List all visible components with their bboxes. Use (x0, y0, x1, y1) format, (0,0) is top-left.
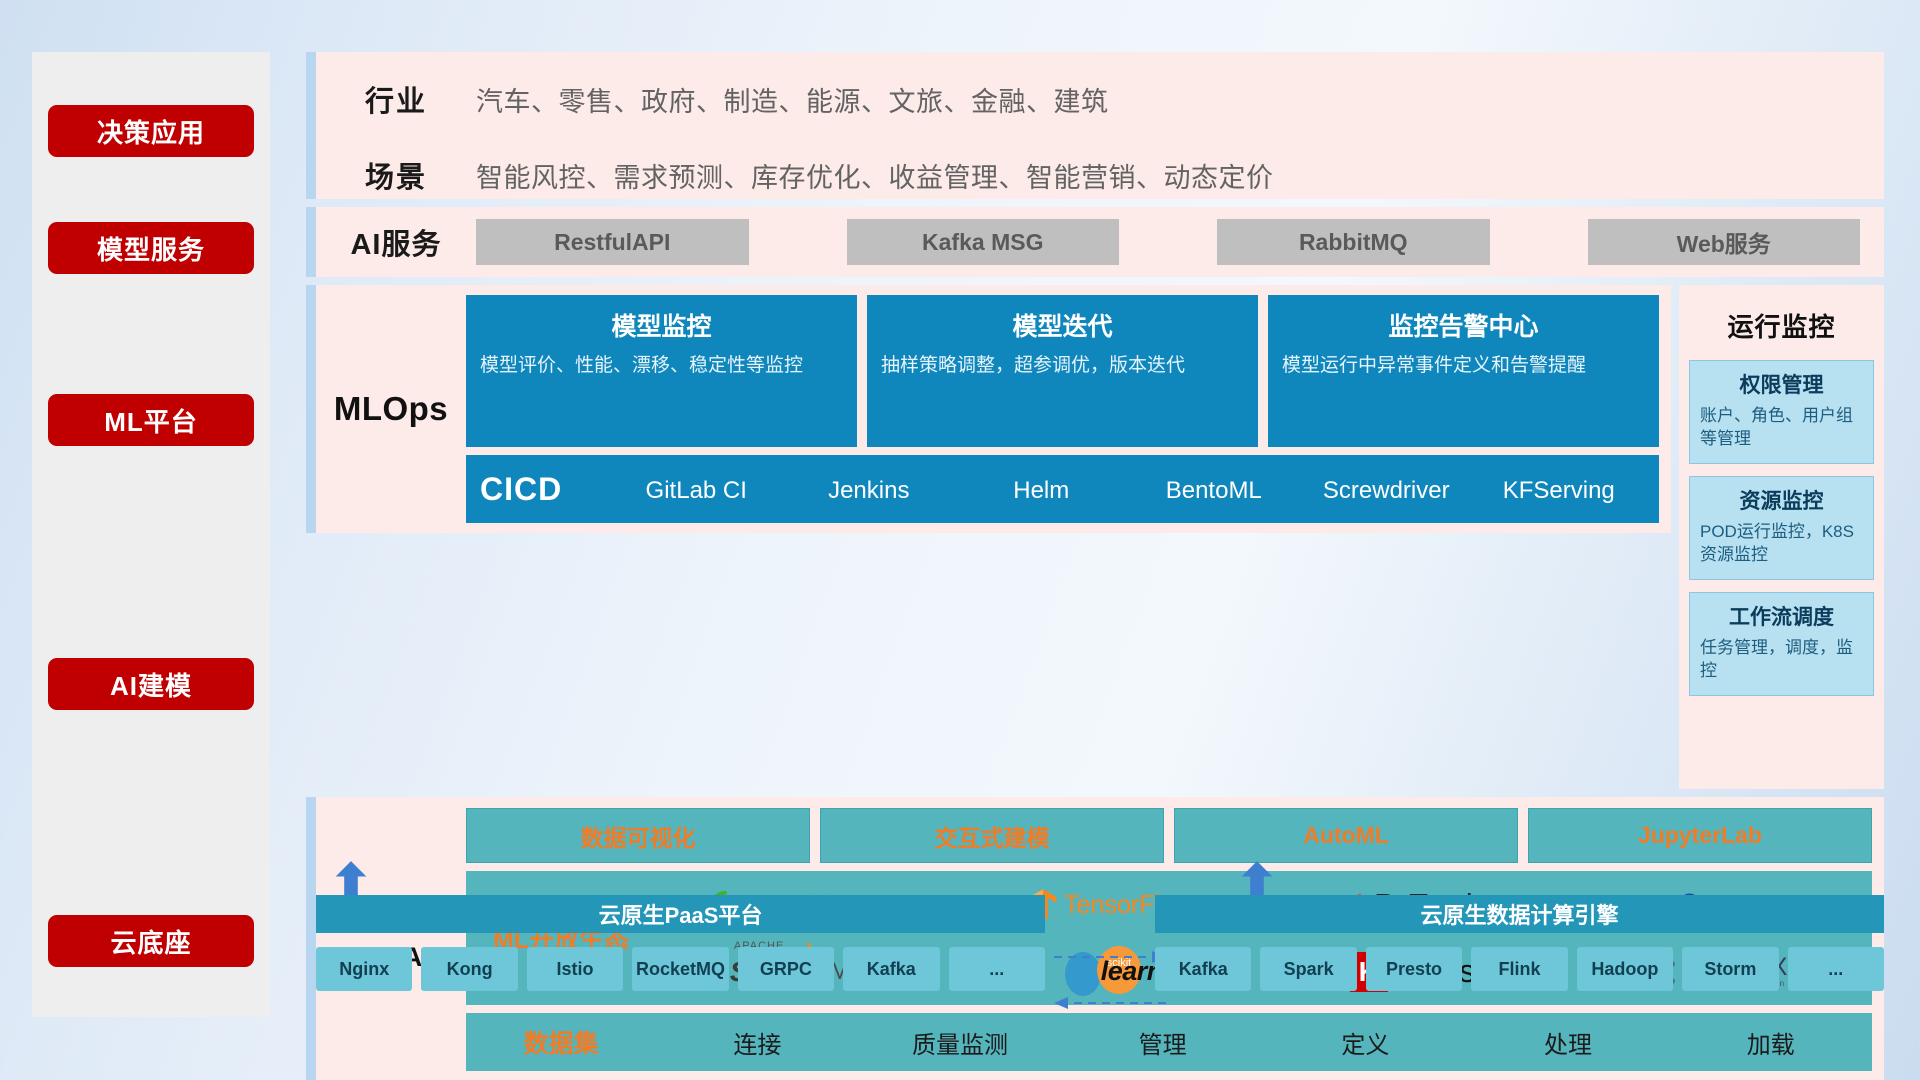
mlops-content: 模型监控 模型评价、性能、漂移、稳定性等监控 模型迭代 抽样策略调整，超参调优，… (466, 295, 1659, 523)
chip-more-compute[interactable]: ... (1788, 947, 1884, 991)
industry-scenario-band: 行业 汽车、零售、政府、制造、能源、文旅、金融、建筑 场景 智能风控、需求预测、… (306, 52, 1884, 199)
dataset-items: 连接 质量监测 管理 定义 处理 加载 (656, 1025, 1872, 1060)
scenario-row: 场景 智能风控、需求预测、库存优化、收益管理、智能营销、动态定价 (316, 150, 1884, 200)
dataset-item-connect[interactable]: 连接 (656, 1025, 859, 1060)
paas-chip-group: Nginx Kong Istio RocketMQ GRPC Kafka ... (316, 947, 1045, 991)
ai-service-chip-restfulapi[interactable]: RestfulAPI (476, 219, 749, 265)
chip-storm[interactable]: Storm (1682, 947, 1778, 991)
cicd-bar: CICD GitLab CI Jenkins Helm BentoML Scre… (466, 455, 1659, 523)
mlops-card-model-iteration[interactable]: 模型迭代 抽样策略调整，超参调优，版本迭代 (867, 295, 1258, 447)
chip-flink[interactable]: Flink (1471, 947, 1567, 991)
card-desc: 任务管理，调度，监控 (1700, 637, 1863, 683)
mlops-monitor-row: MLOps 模型监控 模型评价、性能、漂移、稳定性等监控 模型迭代 抽样策略调整… (306, 285, 1884, 789)
cicd-item-screwdriver[interactable]: Screwdriver (1300, 473, 1473, 505)
mlops-label: MLOps (316, 390, 466, 428)
tool-interactive-modeling[interactable]: 交互式建模 (820, 808, 1164, 863)
ai-service-items: RestfulAPI Kafka MSG RabbitMQ Web服务 (476, 219, 1884, 265)
chip-nginx[interactable]: Nginx (316, 947, 412, 991)
card-title: 模型监控 (480, 307, 843, 343)
tool-automl[interactable]: AutoML (1174, 808, 1518, 863)
ai-service-chip-web[interactable]: Web服务 (1588, 219, 1861, 265)
chip-more-paas[interactable]: ... (949, 947, 1045, 991)
rail-item-ai-modeling[interactable]: AI建模 (48, 658, 254, 710)
compute-chip-group: Kafka Spark Presto Flink Hadoop Storm ..… (1155, 947, 1884, 991)
mlops-cards: 模型监控 模型评价、性能、漂移、稳定性等监控 模型迭代 抽样策略调整，超参调优，… (466, 295, 1659, 447)
up-arrow-compute-icon (1240, 858, 1274, 900)
dataset-item-define[interactable]: 定义 (1264, 1025, 1467, 1060)
industry-label: 行业 (316, 78, 476, 120)
cloud-base-section: 云原生PaaS平台 云原生数据计算引擎 Nginx Kong Istio Roc… (316, 895, 1884, 991)
cloud-chip-rows: Nginx Kong Istio RocketMQ GRPC Kafka ...… (316, 947, 1884, 991)
card-title: 监控告警中心 (1282, 307, 1645, 343)
rail-item-ml-platform[interactable]: ML平台 (48, 394, 254, 446)
chip-istio[interactable]: Istio (527, 947, 623, 991)
card-desc: POD运行监控，K8S资源监控 (1700, 521, 1863, 567)
card-title: 模型迭代 (881, 307, 1244, 343)
card-title: 权限管理 (1700, 369, 1863, 399)
chip-kong[interactable]: Kong (421, 947, 517, 991)
card-desc: 模型评价、性能、漂移、稳定性等监控 (480, 353, 843, 379)
cicd-items: GitLab CI Jenkins Helm BentoML Screwdriv… (610, 473, 1645, 505)
ai-service-band: AI服务 RestfulAPI Kafka MSG RabbitMQ Web服务 (306, 207, 1884, 277)
chip-spark[interactable]: Spark (1260, 947, 1356, 991)
industry-value: 汽车、零售、政府、制造、能源、文旅、金融、建筑 (476, 80, 1109, 119)
up-arrow-paas-icon (334, 858, 368, 900)
cicd-item-helm[interactable]: Helm (955, 473, 1128, 505)
dataset-row: 数据集 连接 质量监测 管理 定义 处理 加载 (466, 1013, 1872, 1071)
monitor-card-resource[interactable]: 资源监控 POD运行监控，K8S资源监控 (1689, 476, 1874, 580)
cicd-item-gitlab-ci[interactable]: GitLab CI (610, 473, 783, 505)
cicd-item-bentoml[interactable]: BentoML (1128, 473, 1301, 505)
tool-data-visualization[interactable]: 数据可视化 (466, 808, 810, 863)
dataset-item-load[interactable]: 加载 (1669, 1025, 1872, 1060)
chip-kafka-paas[interactable]: Kafka (843, 947, 939, 991)
card-title: 资源监控 (1700, 485, 1863, 515)
mlops-card-model-monitoring[interactable]: 模型监控 模型评价、性能、漂移、稳定性等监控 (466, 295, 857, 447)
dataset-item-manage[interactable]: 管理 (1061, 1025, 1264, 1060)
chip-kafka-compute[interactable]: Kafka (1155, 947, 1251, 991)
chip-rocketmq[interactable]: RocketMQ (632, 947, 728, 991)
card-title: 工作流调度 (1700, 601, 1863, 631)
rail-item-decision-app[interactable]: 决策应用 (48, 105, 254, 157)
scenario-label: 场景 (316, 154, 476, 196)
dataset-item-quality[interactable]: 质量监测 (859, 1025, 1062, 1060)
mlops-card-alert-center[interactable]: 监控告警中心 模型运行中异常事件定义和告警提醒 (1268, 295, 1659, 447)
monitor-card-permission[interactable]: 权限管理 账户、角色、用户组等管理 (1689, 360, 1874, 464)
industry-row: 行业 汽车、零售、政府、制造、能源、文旅、金融、建筑 (316, 74, 1884, 124)
cloud-bar-data-engine[interactable]: 云原生数据计算引擎 (1155, 895, 1884, 933)
scenario-value: 智能风控、需求预测、库存优化、收益管理、智能营销、动态定价 (476, 156, 1274, 195)
cicd-item-kfserving[interactable]: KFServing (1473, 473, 1646, 505)
dataset-label: 数据集 (466, 1024, 656, 1060)
chip-grpc[interactable]: GRPC (738, 947, 834, 991)
stack-layer-rail: 决策应用 模型服务 ML平台 AI建模 云底座 (32, 52, 270, 1017)
card-desc: 账户、角色、用户组等管理 (1700, 405, 1863, 451)
chip-presto[interactable]: Presto (1366, 947, 1462, 991)
cloud-bar-paas[interactable]: 云原生PaaS平台 (316, 895, 1045, 933)
runtime-monitor-title: 运行监控 (1689, 307, 1874, 344)
cicd-item-jenkins[interactable]: Jenkins (783, 473, 956, 505)
mlops-band: MLOps 模型监控 模型评价、性能、漂移、稳定性等监控 模型迭代 抽样策略调整… (306, 285, 1671, 533)
ml-lab-tools: 数据可视化 交互式建模 AutoML JupyterLab (466, 808, 1872, 863)
monitor-card-workflow[interactable]: 工作流调度 任务管理，调度，监控 (1689, 592, 1874, 696)
chip-hadoop[interactable]: Hadoop (1577, 947, 1673, 991)
tool-jupyterlab[interactable]: JupyterLab (1528, 808, 1872, 863)
cicd-title: CICD (480, 471, 610, 508)
ai-service-chip-rabbitmq[interactable]: RabbitMQ (1217, 219, 1490, 265)
card-desc: 抽样策略调整，超参调优，版本迭代 (881, 353, 1244, 379)
dataset-item-process[interactable]: 处理 (1467, 1025, 1670, 1060)
rail-item-cloud-base[interactable]: 云底座 (48, 915, 254, 967)
rail-item-model-service[interactable]: 模型服务 (48, 222, 254, 274)
ai-service-label: AI服务 (316, 221, 476, 263)
runtime-monitor-panel: 运行监控 权限管理 账户、角色、用户组等管理 资源监控 POD运行监控，K8S资… (1679, 285, 1884, 789)
cloud-bars: 云原生PaaS平台 云原生数据计算引擎 (316, 895, 1884, 933)
ai-service-chip-kafka-msg[interactable]: Kafka MSG (847, 219, 1120, 265)
card-desc: 模型运行中异常事件定义和告警提醒 (1282, 353, 1645, 379)
